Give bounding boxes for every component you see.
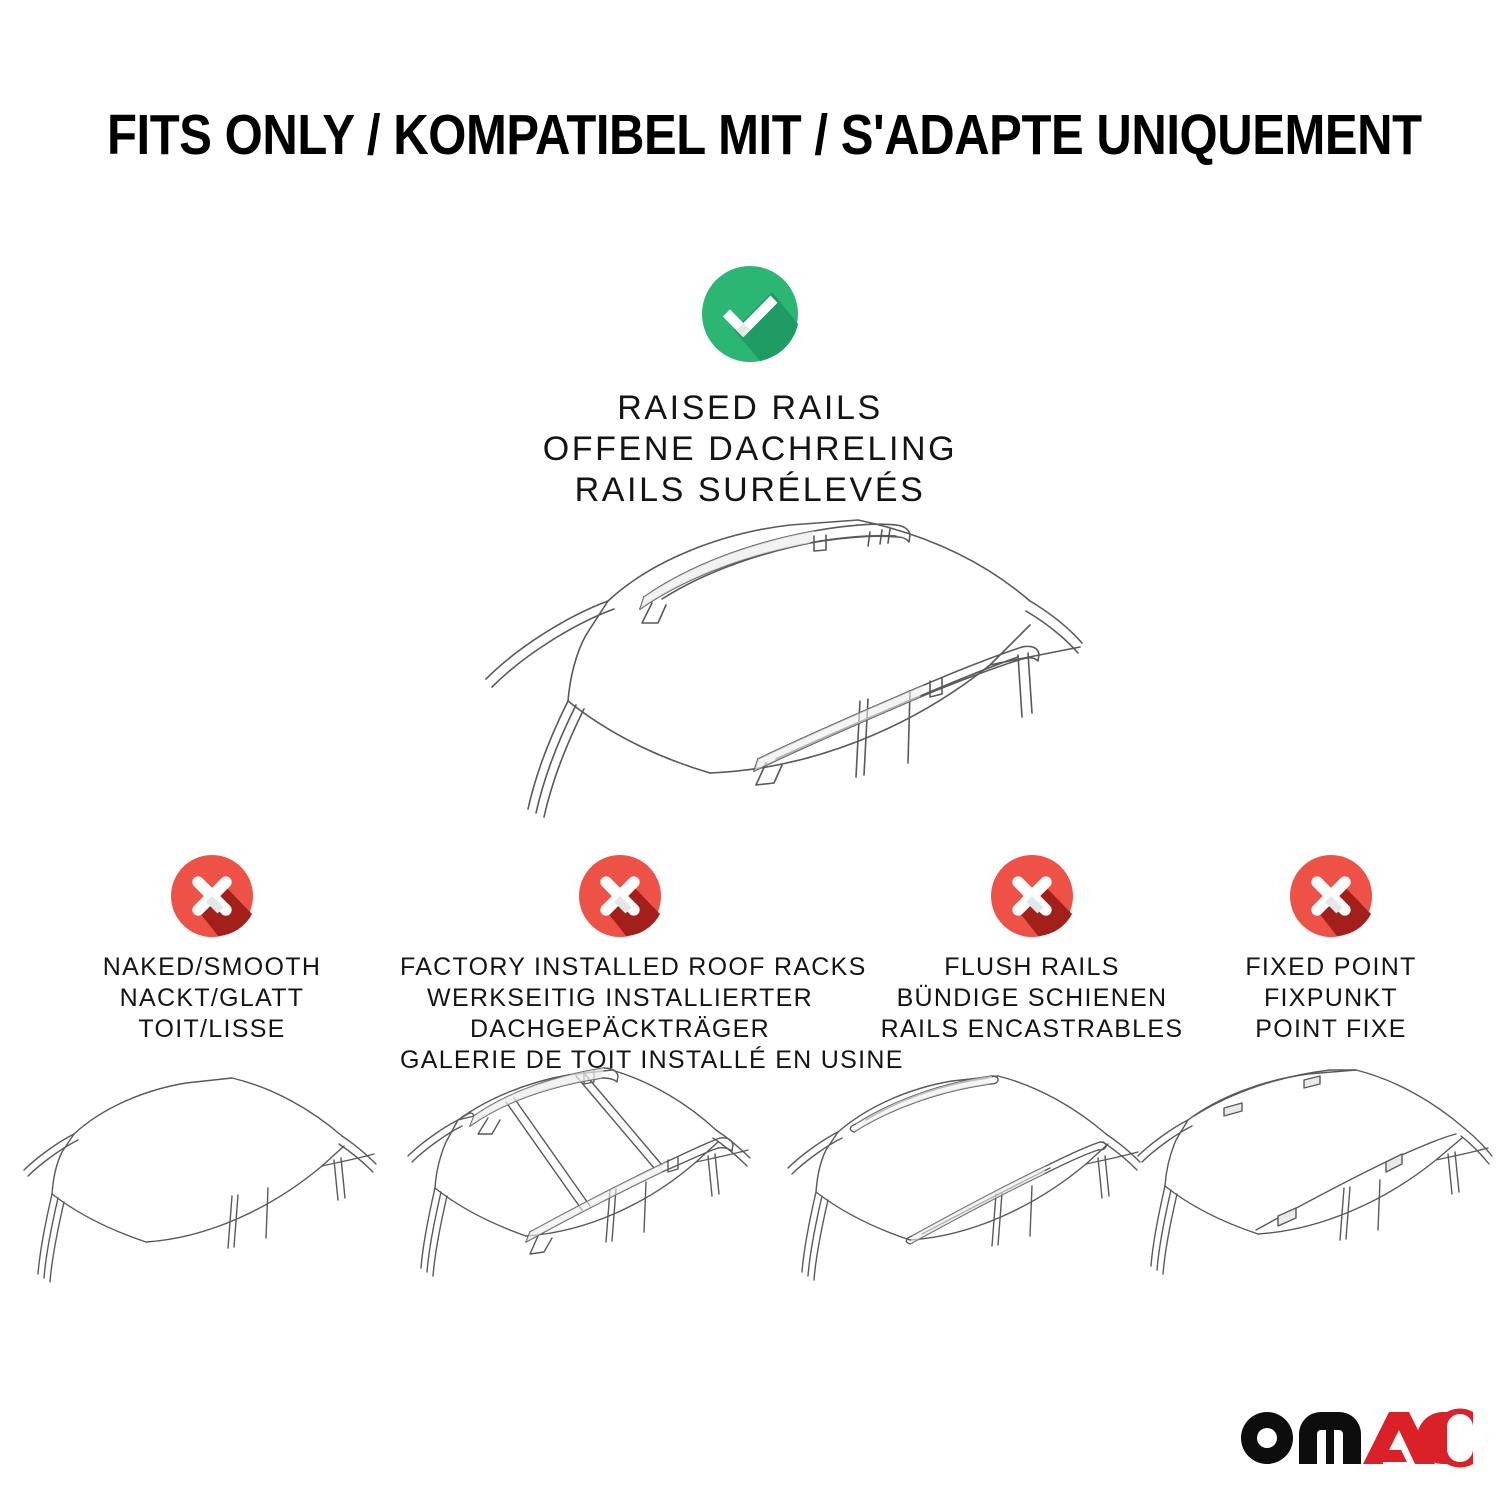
incompatible-item-factory-racks: FACTORY INSTALLED ROOF RACKS WERKSEITIG … [400, 852, 840, 1076]
incompatible-item-naked-smooth: NAKED/SMOOTH NACKT/GLATT TOIT/LISSE [22, 852, 402, 1045]
incompatible-section: NAKED/SMOOTH NACKT/GLATT TOIT/LISSE FACT… [0, 852, 1500, 1082]
compatible-label-group: RAISED RAILS OFFENE DACHRELING RAILS SUR… [0, 388, 1500, 511]
incompatible-label-de: FIXPUNKT [1186, 983, 1476, 1014]
x-circle-icon [1287, 852, 1375, 940]
incompatible-item-fixed-point: FIXED POINT FIXPUNKT POINT FIXE [1186, 852, 1476, 1045]
incompatible-label-en: FLUSH RAILS [852, 952, 1212, 983]
compatible-label-de: OFFENE DACHRELING [0, 429, 1500, 470]
incompatible-item-flush-rails: FLUSH RAILS BÜNDIGE SCHIENEN RAILS ENCAS… [852, 852, 1212, 1045]
page-title: FITS ONLY / KOMPATIBEL MIT / S'ADAPTE UN… [107, 104, 1422, 166]
incompatible-label-de: NACKT/GLATT [22, 983, 402, 1014]
roof-type-drawings [0, 1058, 1500, 1298]
omac-logo [1237, 1408, 1473, 1472]
x-circle-icon [576, 852, 664, 940]
incompatible-label-en: FIXED POINT [1186, 952, 1476, 983]
incompatible-label-en: FACTORY INSTALLED ROOF RACKS [400, 952, 840, 983]
compatible-section: RAISED RAILS OFFENE DACHRELING RAILS SUR… [0, 262, 1500, 511]
incompatible-label-fr: POINT FIXE [1186, 1014, 1476, 1045]
x-circle-icon [988, 852, 1076, 940]
x-circle-icon [168, 852, 256, 940]
check-circle-icon [698, 262, 802, 366]
incompatible-label-group: NAKED/SMOOTH NACKT/GLATT TOIT/LISSE [22, 952, 402, 1045]
incompatible-label-de: BÜNDIGE SCHIENEN [852, 983, 1212, 1014]
incompatible-label-fr: TOIT/LISSE [22, 1014, 402, 1045]
car-roof-flush-rails-drawing [782, 1058, 1154, 1298]
compatible-label-en: RAISED RAILS [0, 388, 1500, 429]
incompatible-label-fr: RAILS ENCASTRABLES [852, 1014, 1212, 1045]
incompatible-label-de-2: DACHGEPÄCKTRÄGER [400, 1014, 840, 1045]
header: FITS ONLY / KOMPATIBEL MIT / S'ADAPTE UN… [0, 104, 1500, 166]
incompatible-label-group: FLUSH RAILS BÜNDIGE SCHIENEN RAILS ENCAS… [852, 952, 1212, 1045]
incompatible-label-en: NAKED/SMOOTH [22, 952, 402, 983]
car-roof-factory-racks-drawing [398, 1058, 770, 1298]
car-roof-raised-rails-drawing [390, 505, 1110, 835]
incompatible-label-group: FIXED POINT FIXPUNKT POINT FIXE [1186, 952, 1476, 1045]
incompatible-label-de-1: WERKSEITIG INSTALLIERTER [400, 983, 840, 1014]
car-roof-naked-smooth-drawing [22, 1058, 394, 1298]
car-roof-fixed-point-drawing [1128, 1058, 1500, 1298]
